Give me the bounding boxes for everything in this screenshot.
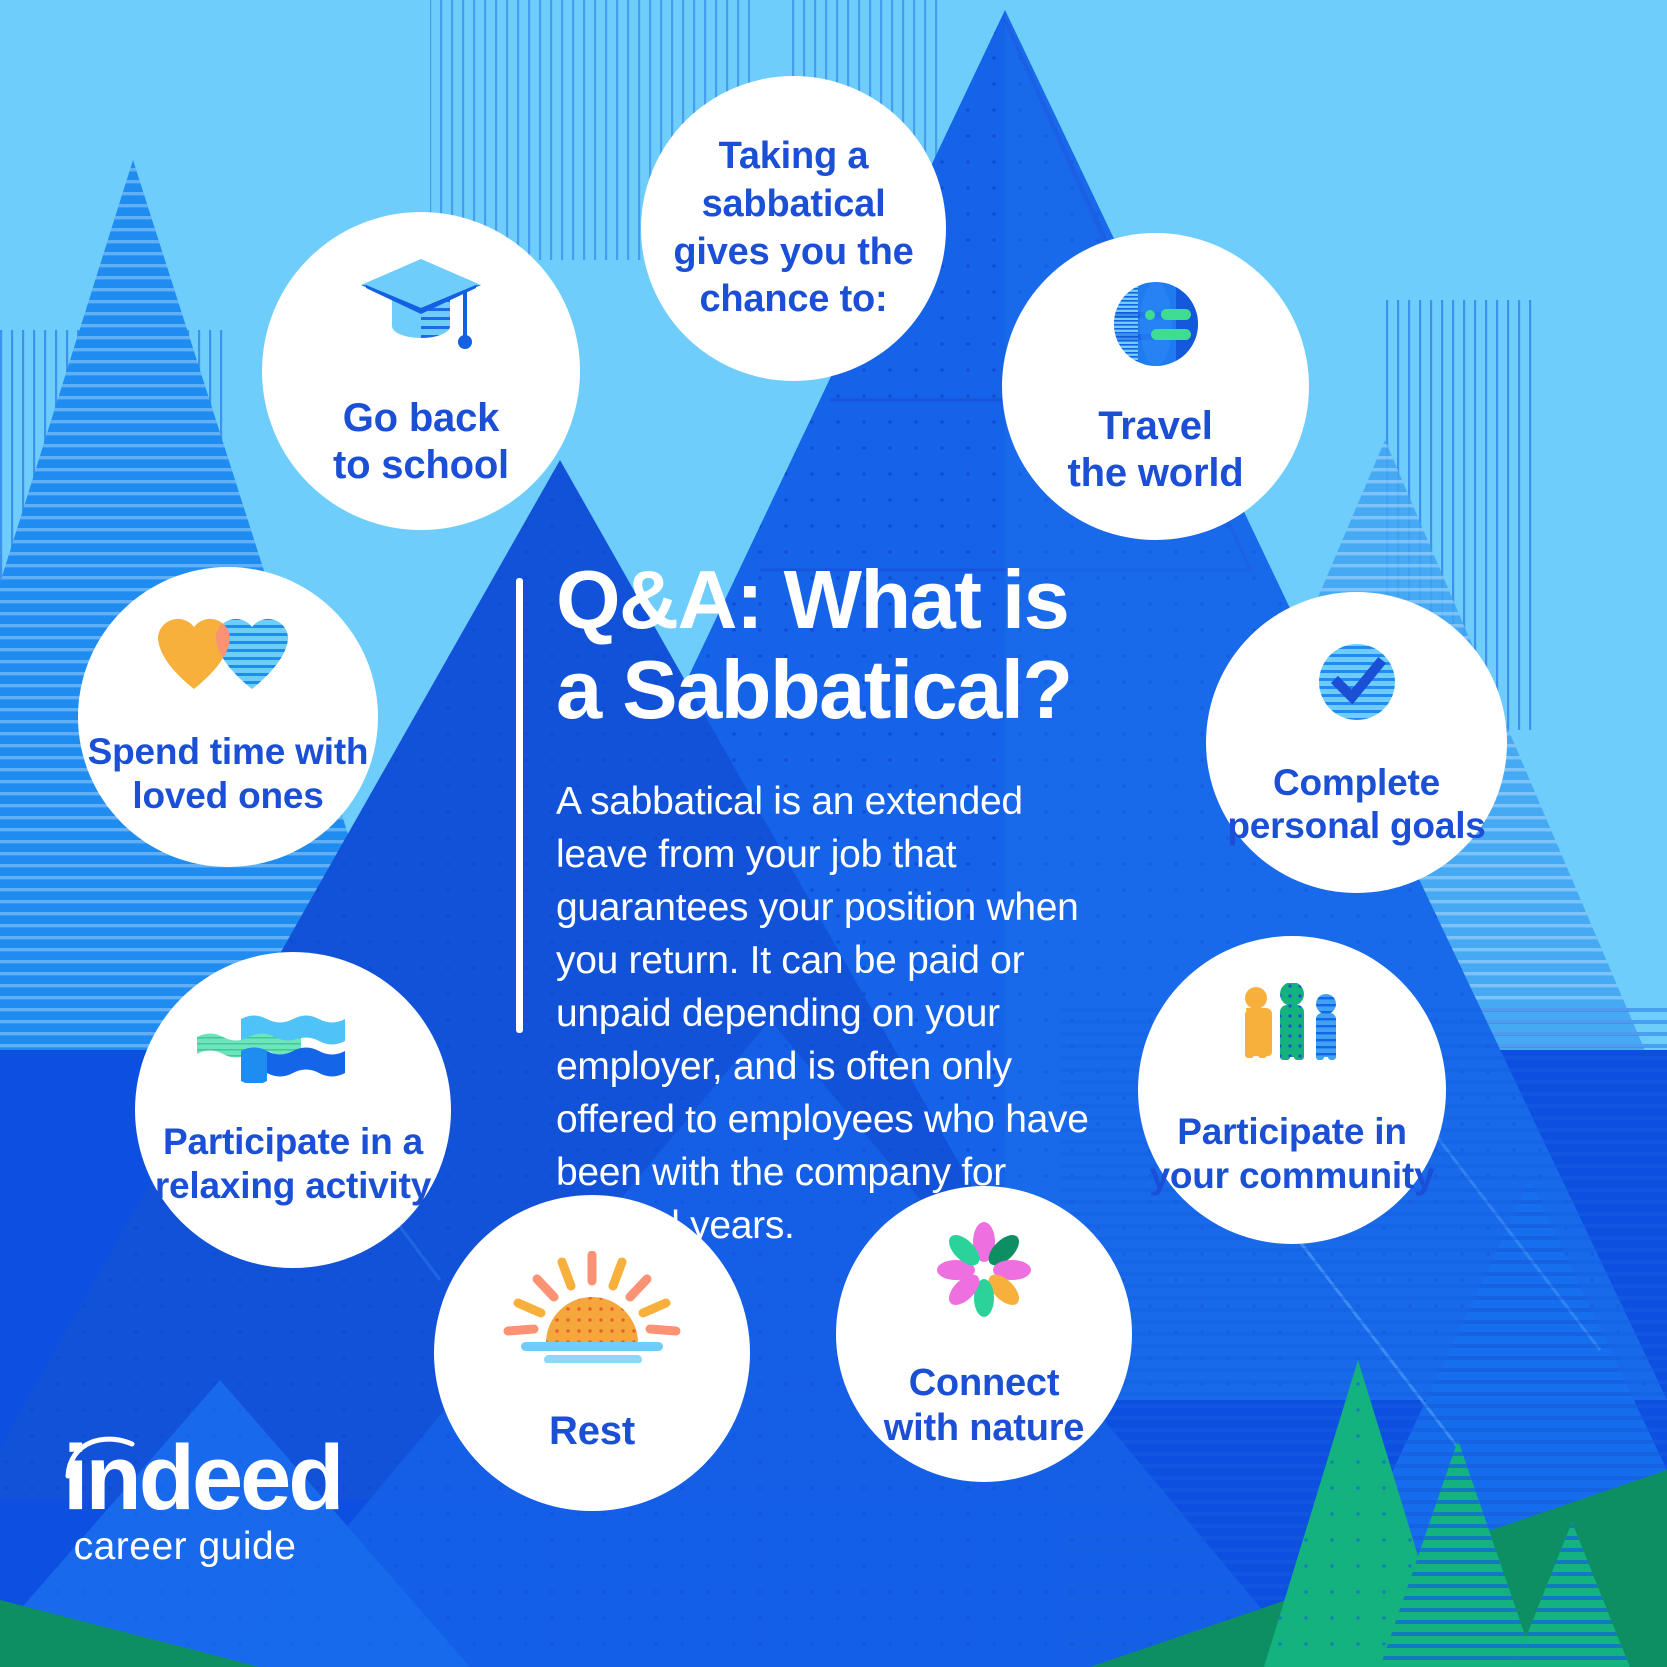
- bubble-label-travel-the-world: Travel the world: [1068, 403, 1244, 497]
- bubble-label-connect-with-nature: Connect with nature: [884, 1361, 1084, 1450]
- two-hearts-icon: [158, 617, 298, 700]
- bubble-rest[interactable]: Rest: [434, 1195, 750, 1511]
- indeed-career-guide-logo: indeed career guide: [55, 1436, 315, 1566]
- intro-bubble-label: Taking a sabbatical gives you the chance…: [673, 133, 913, 325]
- flower-icon: [932, 1218, 1036, 1327]
- logo-wordmark: indeed: [63, 1436, 315, 1521]
- title-divider: [516, 578, 523, 1033]
- sunrise-icon: [499, 1251, 685, 1368]
- bubble-relaxing-activity[interactable]: Participate in a relaxing activity: [135, 952, 451, 1268]
- bubble-label-spend-time-loved-ones: Spend time with loved ones: [88, 730, 369, 817]
- body-paragraph: A sabbatical is an extended leave from y…: [556, 775, 1116, 1252]
- infographic-canvas: Q&A: What is a Sabbatical? A sabbatical …: [0, 0, 1667, 1667]
- globe-icon: [1108, 276, 1204, 377]
- bubble-complete-personal-goals[interactable]: Complete personal goals: [1206, 592, 1507, 893]
- bubble-spend-time-loved-ones[interactable]: Spend time with loved ones: [78, 567, 378, 867]
- bubble-label-go-back-to-school: Go back to school: [333, 395, 509, 489]
- bubble-label-participate-community: Participate in your community: [1149, 1110, 1434, 1197]
- bubble-label-rest: Rest: [549, 1408, 635, 1455]
- bubble-travel-the-world[interactable]: Travel the world: [1002, 233, 1309, 540]
- bubble-participate-community[interactable]: Participate in your community: [1138, 936, 1446, 1244]
- bubble-go-back-to-school[interactable]: Go back to school: [262, 212, 580, 530]
- intro-bubble[interactable]: Taking a sabbatical gives you the chance…: [641, 76, 946, 381]
- bubble-label-complete-personal-goals: Complete personal goals: [1227, 761, 1485, 848]
- page-title: Q&A: What is a Sabbatical?: [556, 555, 1156, 734]
- logo-tagline: career guide: [55, 1527, 315, 1566]
- waves-icon: [193, 1013, 393, 1088]
- bubble-connect-with-nature[interactable]: Connect with nature: [836, 1186, 1132, 1482]
- three-people-icon: [1237, 983, 1347, 1080]
- checkmark-circle-icon: [1313, 638, 1401, 731]
- graduation-cap-icon: [356, 254, 486, 369]
- bubble-label-relaxing-activity: Participate in a relaxing activity: [155, 1120, 431, 1207]
